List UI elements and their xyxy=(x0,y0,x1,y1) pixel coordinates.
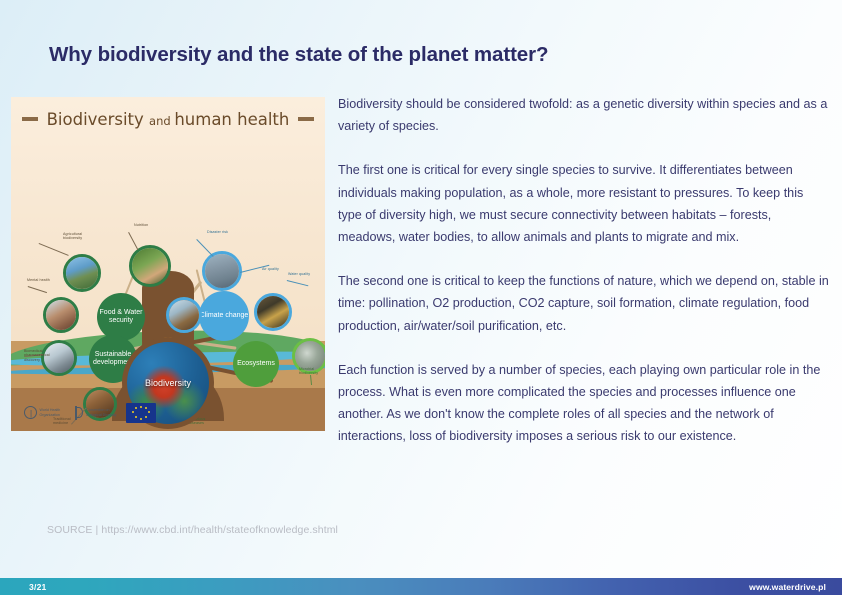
photo-image xyxy=(66,257,98,289)
hub-label: Ecosystems xyxy=(237,360,275,368)
label-disaster-risk: Disaster risk xyxy=(207,230,243,234)
hub-ecosystems[interactable]: Ecosystems xyxy=(233,341,279,387)
hub-label: Climate change xyxy=(200,312,249,320)
photo-image xyxy=(169,300,199,330)
infographic-title-conjunction: and xyxy=(149,114,174,128)
source-citation: SOURCE | https://www.cbd.int/health/stat… xyxy=(47,524,338,536)
footer-bar: 3/21 www.waterdrive.pl xyxy=(0,578,842,595)
who-logo-text: World Health Organization xyxy=(40,408,61,417)
who-emblem-icon xyxy=(24,406,37,419)
hub-climate-change[interactable]: Climate change xyxy=(199,291,249,341)
cbd-logo-text: Convention on Biological Diversity xyxy=(86,408,116,417)
photo-image xyxy=(132,248,168,284)
infographic-title-part-1: Biodiversity xyxy=(47,110,149,129)
photo-image xyxy=(205,254,239,288)
footer-page-number: 3/21 xyxy=(29,582,47,592)
infographic-image: Biodiversity and human health Food & Wat… xyxy=(11,97,325,431)
infographic-header: Biodiversity and human health xyxy=(11,97,325,141)
paragraph-2: The first one is critical for every sing… xyxy=(338,159,830,248)
hub-label: Food & Water security xyxy=(97,309,145,325)
photo-disaster-risk[interactable] xyxy=(202,251,242,291)
footer-website-url[interactable]: www.waterdrive.pl xyxy=(749,582,826,592)
paragraph-4: Each function is served by a number of s… xyxy=(338,359,830,448)
photo-nutrition[interactable] xyxy=(129,245,171,287)
root-label: Biodiversity xyxy=(145,378,191,388)
rule-right-icon xyxy=(298,117,314,121)
paragraph-1: Biodiversity should be considered twofol… xyxy=(338,93,830,137)
slide-canvas: Why biodiversity and the state of the pl… xyxy=(0,0,842,595)
label-water-quality: Water quality xyxy=(288,272,324,276)
label-agricultural-biodiversity: Agricultural biodiversity xyxy=(63,232,103,241)
label-air-quality: Air quality xyxy=(262,267,294,271)
label-mental-health: Mental health xyxy=(27,278,69,282)
body-text: Biodiversity should be considered twofol… xyxy=(338,93,830,448)
photo-air-quality[interactable] xyxy=(166,297,202,333)
cbd-emblem-icon xyxy=(70,406,83,420)
infographic-title-part-2: human health xyxy=(174,110,289,129)
photo-water-quality[interactable] xyxy=(254,293,292,331)
photo-mental-health[interactable] xyxy=(43,297,79,333)
european-union-flag-icon xyxy=(126,403,156,423)
infographic-title: Biodiversity and human health xyxy=(47,110,290,129)
hub-food-water-security[interactable]: Food & Water security xyxy=(97,293,145,341)
infographic-logos: World Health Organization Convention on … xyxy=(24,403,157,423)
paragraph-3: The second one is critical to keep the f… xyxy=(338,270,830,337)
label-microbial-biodiversity: Microbial biodiversity xyxy=(299,367,325,376)
cbd-logo: Convention on Biological Diversity xyxy=(70,406,116,420)
rule-left-icon xyxy=(22,117,38,121)
who-logo: World Health Organization xyxy=(24,406,61,419)
photo-image xyxy=(46,300,76,330)
photo-agricultural-biodiversity[interactable] xyxy=(63,254,101,292)
label-biomedical-pharmaceutical-discovery: Biomedical pharmaceutical discovery xyxy=(24,349,64,362)
label-nutrition: Nutrition xyxy=(134,223,168,227)
page-title: Why biodiversity and the state of the pl… xyxy=(49,43,548,67)
photo-image xyxy=(257,296,289,328)
